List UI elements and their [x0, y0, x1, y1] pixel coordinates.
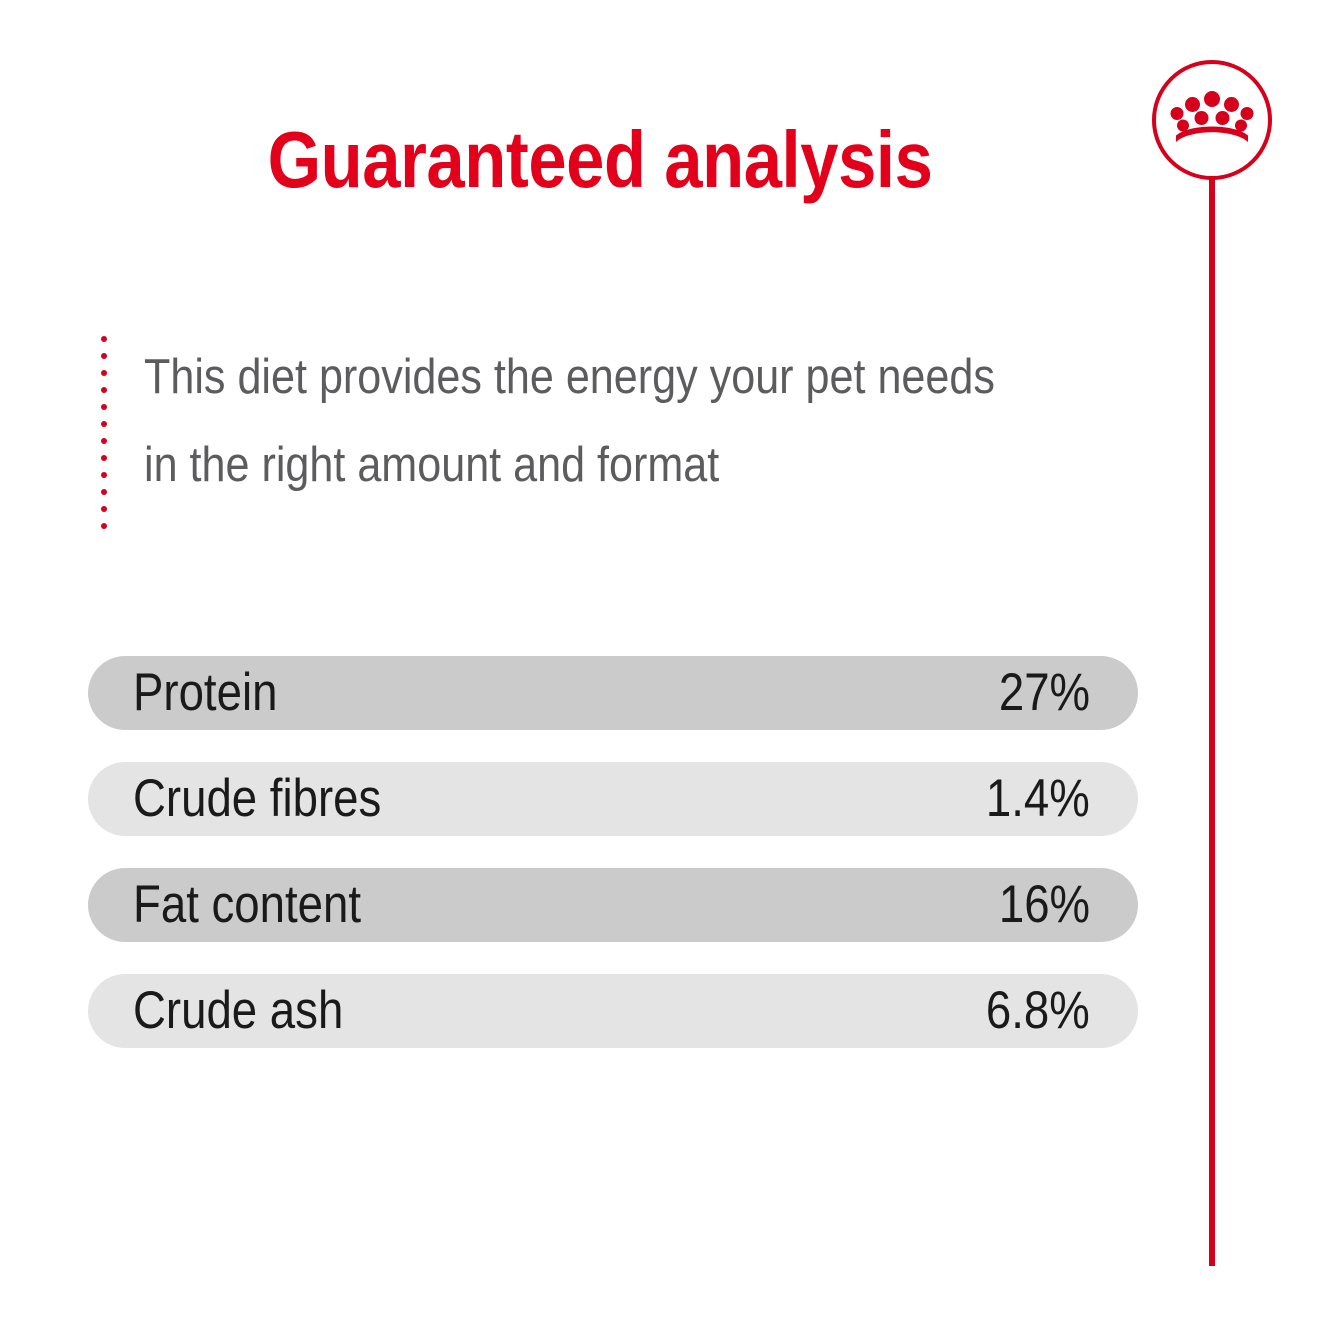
nutrient-value: 6.8% — [986, 983, 1090, 1039]
table-row: Protein 27% — [88, 656, 1138, 730]
guaranteed-analysis-page: Guaranteed analysis This diet provides t… — [0, 0, 1320, 1320]
intro-block: This diet provides the energy your pet n… — [98, 333, 1098, 523]
nutrient-label: Protein — [133, 665, 277, 721]
intro-line-2: in the right amount and format — [144, 421, 971, 509]
analysis-table: Protein 27% Crude fibres 1.4% Fat conten… — [88, 656, 1138, 1048]
royal-canin-logo — [1152, 60, 1272, 180]
table-row: Crude ash 6.8% — [88, 974, 1138, 1048]
intro-text: This diet provides the energy your pet n… — [144, 333, 971, 509]
brand-vertical-rule — [1209, 178, 1215, 1266]
nutrient-value: 16% — [999, 877, 1090, 933]
nutrient-value: 1.4% — [986, 771, 1090, 827]
intro-line-1: This diet provides the energy your pet n… — [144, 333, 971, 421]
nutrient-value: 27% — [999, 665, 1090, 721]
table-row: Fat content 16% — [88, 868, 1138, 942]
nutrient-label: Crude fibres — [133, 771, 381, 827]
nutrient-label: Crude ash — [133, 983, 343, 1039]
nutrient-label: Fat content — [133, 877, 361, 933]
dotted-accent-rule — [98, 336, 110, 521]
table-row: Crude fibres 1.4% — [88, 762, 1138, 836]
page-title: Guaranteed analysis — [136, 112, 1065, 208]
royal-canin-crown-icon — [1170, 88, 1254, 150]
